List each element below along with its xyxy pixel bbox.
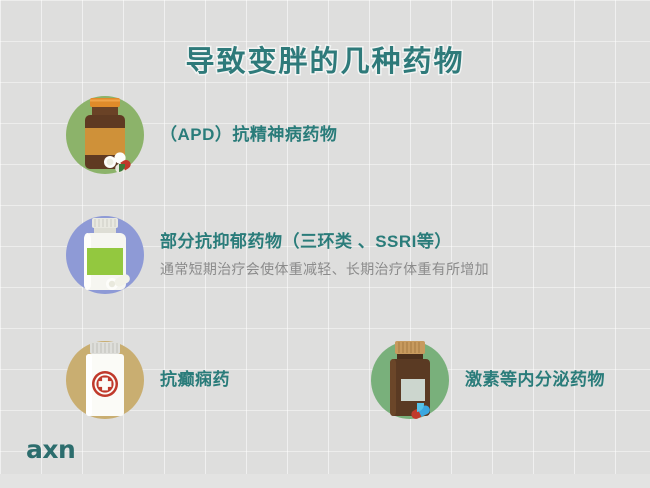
list-item-texts: 抗癫痫药: [160, 369, 230, 390]
list-item-label: （APD）抗精神病药物: [160, 124, 337, 145]
axn-logo: axn: [26, 435, 75, 464]
infographic-slide: 导致变胖的几种药物 （APD）抗精神病药物: [0, 0, 650, 488]
list-item: 部分抗抑郁药物（三环类 、SSRI等） 通常短期治疗会使体重减轻、长期治疗体重有…: [62, 212, 489, 298]
list-item-texts: （APD）抗精神病药物: [160, 124, 337, 145]
list-item-label: 抗癫痫药: [160, 369, 230, 390]
list-item-sublabel: 通常短期治疗会使体重减轻、长期治疗体重有所增加: [160, 259, 489, 279]
list-item: 激素等内分泌药物: [367, 337, 605, 423]
list-item: （APD）抗精神病药物: [62, 92, 337, 178]
list-item-texts: 部分抗抑郁药物（三环类 、SSRI等） 通常短期治疗会使体重减轻、长期治疗体重有…: [160, 231, 489, 278]
list-item: 抗癫痫药: [62, 337, 230, 423]
list-item-label: 部分抗抑郁药物（三环类 、SSRI等）: [160, 231, 489, 252]
medicine-bottle-red-cross-icon: [62, 337, 148, 423]
pill-bottle-dark-brown-icon: [367, 337, 453, 423]
list-item-texts: 激素等内分泌药物: [465, 369, 605, 390]
list-item-label: 激素等内分泌药物: [465, 369, 605, 390]
bottom-band: [0, 474, 650, 488]
pill-bottle-amber-icon: [62, 92, 148, 178]
page-title: 导致变胖的几种药物: [0, 38, 650, 80]
pill-bottle-green-label-icon: [62, 212, 148, 298]
